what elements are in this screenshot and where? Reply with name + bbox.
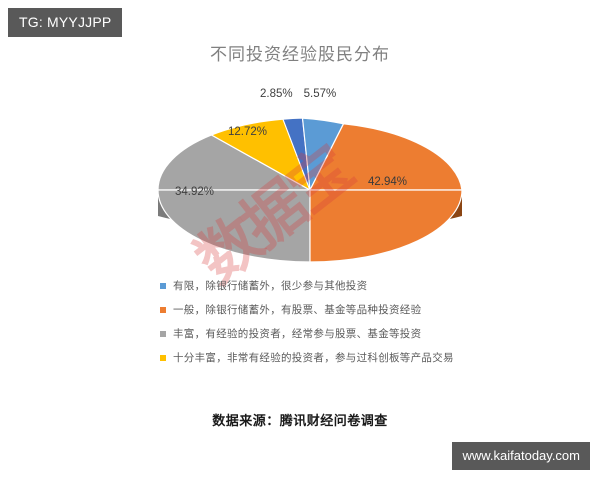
chart-legend: 有限，除银行储蓄外，很少参与其他投资 一般，除银行储蓄外，有股票、基金等品种投资… bbox=[160, 278, 500, 374]
legend-swatch-blue bbox=[160, 283, 166, 289]
legend-item-0[interactable]: 有限，除银行储蓄外，很少参与其他投资 bbox=[160, 278, 500, 294]
legend-label-3: 十分丰富，非常有经验的投资者，参与过科创板等产品交易 bbox=[173, 350, 454, 366]
data-source-label: 数据来源：腾讯财经问卷调查 bbox=[0, 410, 600, 429]
slice-label-orange: 42.94% bbox=[368, 176, 407, 188]
chart-title: 不同投资经验股民分布 bbox=[0, 40, 600, 65]
legend-swatch-orange bbox=[160, 307, 166, 313]
legend-label-2: 丰富，有经验的投资者，经常参与股票、基金等投资 bbox=[173, 326, 421, 342]
legend-item-1[interactable]: 一般，除银行储蓄外，有股票、基金等品种投资经验 bbox=[160, 302, 500, 318]
pie-top-labels: 2.85% 5.57% bbox=[260, 88, 420, 100]
legend-item-3[interactable]: 十分丰富，非常有经验的投资者，参与过科创板等产品交易 bbox=[160, 350, 500, 366]
slice-label-gray: 34.92% bbox=[175, 186, 214, 198]
legend-swatch-yellow bbox=[160, 355, 166, 361]
legend-label-0: 有限，除银行储蓄外，很少参与其他投资 bbox=[173, 278, 367, 294]
legend-item-2[interactable]: 丰富，有经验的投资者，经常参与股票、基金等投资 bbox=[160, 326, 500, 342]
telegram-badge: TG: MYYJJPP bbox=[8, 8, 122, 37]
pie-chart: 2.85% 5.57% 12.72% 34.92% 42.94% bbox=[150, 88, 470, 278]
site-watermark: www.kaifatoday.com bbox=[452, 442, 590, 470]
legend-label-1: 一般，除银行储蓄外，有股票、基金等品种投资经验 bbox=[173, 302, 421, 318]
slice-label-dark-blue: 2.85% bbox=[260, 88, 293, 100]
pie-slice-gray-lower bbox=[158, 190, 310, 262]
slice-label-yellow: 12.72% bbox=[228, 126, 267, 138]
legend-swatch-gray bbox=[160, 331, 166, 337]
slice-label-light-blue: 5.57% bbox=[304, 88, 337, 100]
pie-slice-orange-lower bbox=[310, 190, 462, 262]
